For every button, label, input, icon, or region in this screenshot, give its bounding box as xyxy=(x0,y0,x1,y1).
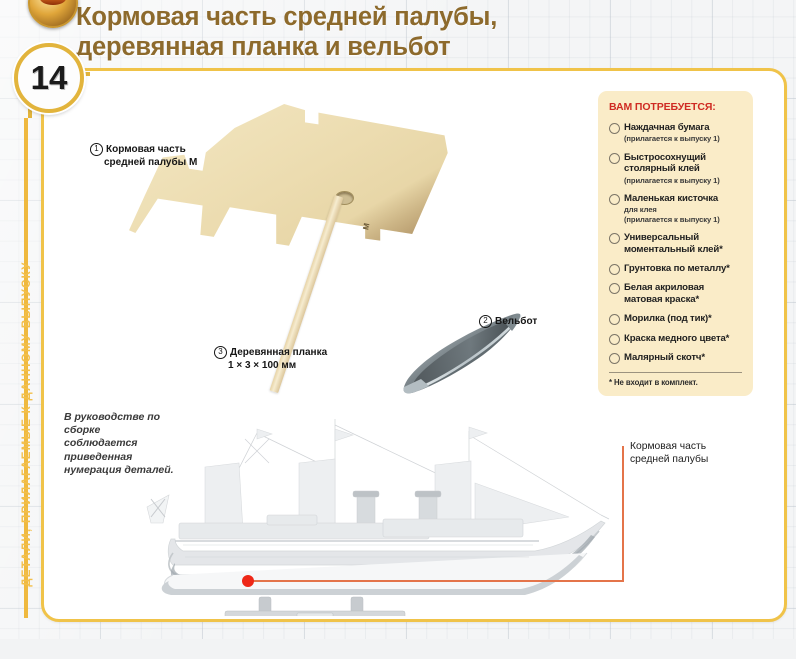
callout-plank: 3Деревянная планка 1 × 3 × 100 мм xyxy=(214,346,394,372)
materials-item-label: Универсальныймоментальный клей* xyxy=(624,232,744,255)
ship-part-label: Кормовая часть средней палубы xyxy=(630,440,708,466)
checkbox-circle-icon[interactable] xyxy=(609,153,620,164)
ship-model-photo xyxy=(139,411,619,616)
materials-item-label: Быстросохнущийстолярный клей xyxy=(624,152,744,175)
materials-list-item[interactable]: Грунтовка по металлу* xyxy=(609,263,744,274)
materials-list-item[interactable]: Краска медного цвета* xyxy=(609,333,744,344)
page-title-line-1: Кормовая часть средней палубы, xyxy=(76,2,716,32)
deck-part-engraved-mark: M xyxy=(361,222,371,230)
materials-item-label: Малярный скотч* xyxy=(624,352,744,363)
materials-item-label: Краска медного цвета* xyxy=(624,333,744,344)
materials-list-item[interactable]: Маленькая кисточкадля клея(прилагается к… xyxy=(609,193,744,224)
materials-list-item[interactable]: Универсальныймоментальный клей* xyxy=(609,232,744,255)
materials-box: ВАМ ПОТРЕБУЕТСЯ: Наждачная бумага(прилаг… xyxy=(598,91,753,396)
materials-list-item[interactable]: Белая акриловаяматовая краска* xyxy=(609,282,744,305)
checkbox-circle-icon[interactable] xyxy=(609,233,620,244)
callout-plank-line-1: Деревянная планка xyxy=(230,347,327,358)
materials-item-sublabel: (прилагается к выпуску 1) xyxy=(624,176,744,185)
deck-location-marker xyxy=(242,575,254,587)
checkbox-circle-icon[interactable] xyxy=(609,194,620,205)
page-title-line-2: деревянная планка и вельбот xyxy=(76,32,716,62)
callout-deck-number: 1 xyxy=(90,143,103,156)
materials-list-item[interactable]: Малярный скотч* xyxy=(609,352,744,363)
materials-box-title: ВАМ ПОТРЕБУЕТСЯ: xyxy=(609,101,744,113)
callout-plank-number: 3 xyxy=(214,346,227,359)
sidebar-vertical-label: ДЕТАЛИ, ПРИЛАГАЕМЫЕ К ДАННОМУ ВЫПУСКУ xyxy=(21,189,33,659)
callout-whaleboat-number: 2 xyxy=(479,315,492,328)
materials-item-sublabel: (прилагается к выпуску 1) xyxy=(624,134,744,143)
materials-item-sublabel: для клея(прилагается к выпуску 1) xyxy=(624,205,744,224)
callout-plank-line-2: 1 × 3 × 100 мм xyxy=(214,360,394,373)
materials-item-label: Грунтовка по металлу* xyxy=(624,263,744,274)
issue-number-value: 14 xyxy=(18,47,80,109)
checkbox-circle-icon[interactable] xyxy=(609,334,620,345)
callout-deck-line-2: средней палубы М xyxy=(90,157,250,170)
callout-whaleboat: 2Вельбот xyxy=(479,315,537,329)
materials-item-label: Морилка (под тик)* xyxy=(624,313,744,324)
leader-line-horizontal xyxy=(248,580,623,582)
callout-deck-line-1: Кормовая часть xyxy=(106,144,186,155)
callout-deck-part: 1Кормовая часть средней палубы М xyxy=(90,143,250,169)
materials-item-label: Наждачная бумага xyxy=(624,122,744,133)
materials-footnote: * Не входит в комплект. xyxy=(609,378,744,387)
page-title: Кормовая часть средней палубы, деревянна… xyxy=(76,2,716,62)
ship-part-label-line-1: Кормовая часть xyxy=(630,440,708,453)
materials-divider xyxy=(609,372,742,373)
issue-number-badge: 14 xyxy=(14,43,84,113)
materials-list: Наждачная бумага(прилагается к выпуску 1… xyxy=(609,122,744,364)
content-panel: M xyxy=(41,68,787,622)
materials-list-item[interactable]: Быстросохнущийстолярный клей(прилагается… xyxy=(609,152,744,185)
materials-list-item[interactable]: Наждачная бумага(прилагается к выпуску 1… xyxy=(609,122,744,144)
checkbox-circle-icon[interactable] xyxy=(609,314,620,325)
materials-item-label: Белая акриловаяматовая краска* xyxy=(624,282,744,305)
materials-item-label: Маленькая кисточка xyxy=(624,193,744,204)
ship-part-label-line-2: средней палубы xyxy=(630,453,708,466)
checkbox-circle-icon[interactable] xyxy=(609,353,620,364)
materials-list-item[interactable]: Морилка (под тик)* xyxy=(609,313,744,324)
checkbox-circle-icon[interactable] xyxy=(609,283,620,294)
checkbox-circle-icon[interactable] xyxy=(609,264,620,275)
checkbox-circle-icon[interactable] xyxy=(609,123,620,134)
callout-whaleboat-line-1: Вельбот xyxy=(495,316,537,327)
leader-line-vertical xyxy=(622,446,624,582)
